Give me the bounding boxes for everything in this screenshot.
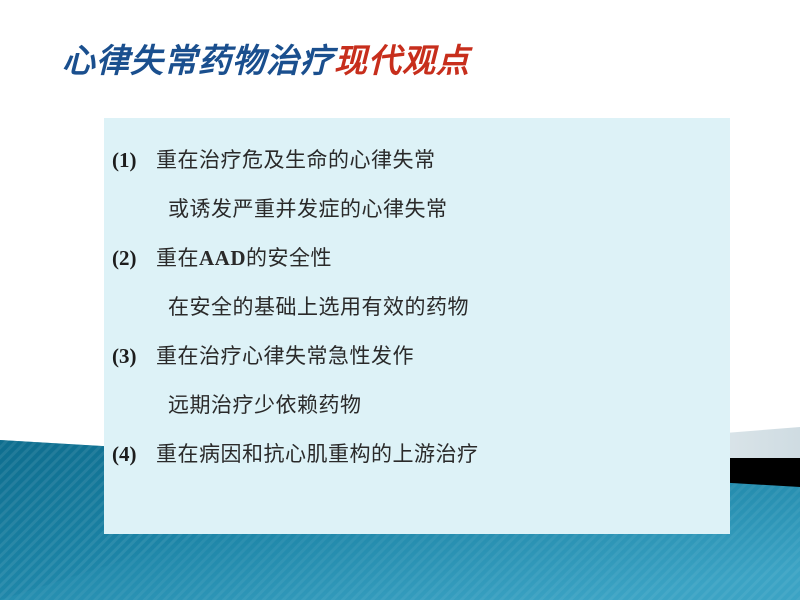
list-item-text: 重在AAD的安全性: [156, 242, 332, 272]
list-item-marker: (4): [112, 442, 156, 467]
slide-title: 心律失常药物治疗现代观点: [62, 44, 470, 80]
list-item: 远期治疗少依赖药物: [104, 389, 730, 438]
slide-canvas: 心律失常药物治疗现代观点 (1) 重在治疗危及生命的心律失常 或诱发严重并发症的…: [0, 0, 800, 600]
list-item-marker: (1): [112, 148, 156, 173]
list-item-text-latin: AAD: [199, 246, 246, 270]
list-item-marker: (2): [112, 246, 156, 271]
list-item: 或诱发严重并发症的心律失常: [104, 193, 730, 242]
list-item: (1) 重在治疗危及生命的心律失常: [104, 144, 730, 193]
list-item: 在安全的基础上选用有效的药物: [104, 291, 730, 340]
list-item-text: 或诱发严重并发症的心律失常: [156, 193, 448, 223]
bullet-list: (1) 重在治疗危及生命的心律失常 或诱发严重并发症的心律失常 (2) 重在AA…: [104, 144, 730, 487]
black-diagonal-band: [730, 458, 800, 497]
list-item: (2) 重在AAD的安全性: [104, 242, 730, 291]
list-item-text: 重在病因和抗心肌重构的上游治疗: [156, 438, 479, 468]
slide-title-accent: 现代观点: [334, 44, 470, 80]
slide-title-primary: 心律失常药物治疗: [62, 44, 334, 80]
list-item-text: 在安全的基础上选用有效的药物: [156, 291, 469, 321]
list-item: (4) 重在病因和抗心肌重构的上游治疗: [104, 438, 730, 487]
list-item-text-post: 的安全性: [246, 247, 332, 270]
list-item: (3) 重在治疗心律失常急性发作: [104, 340, 730, 389]
list-item-marker: (3): [112, 344, 156, 369]
list-item-text-pre: 重在: [156, 247, 199, 270]
list-item-text: 重在治疗危及生命的心律失常: [156, 144, 436, 174]
list-item-text: 远期治疗少依赖药物: [156, 389, 362, 419]
content-panel: (1) 重在治疗危及生命的心律失常 或诱发严重并发症的心律失常 (2) 重在AA…: [104, 118, 730, 534]
list-item-text: 重在治疗心律失常急性发作: [156, 340, 414, 370]
